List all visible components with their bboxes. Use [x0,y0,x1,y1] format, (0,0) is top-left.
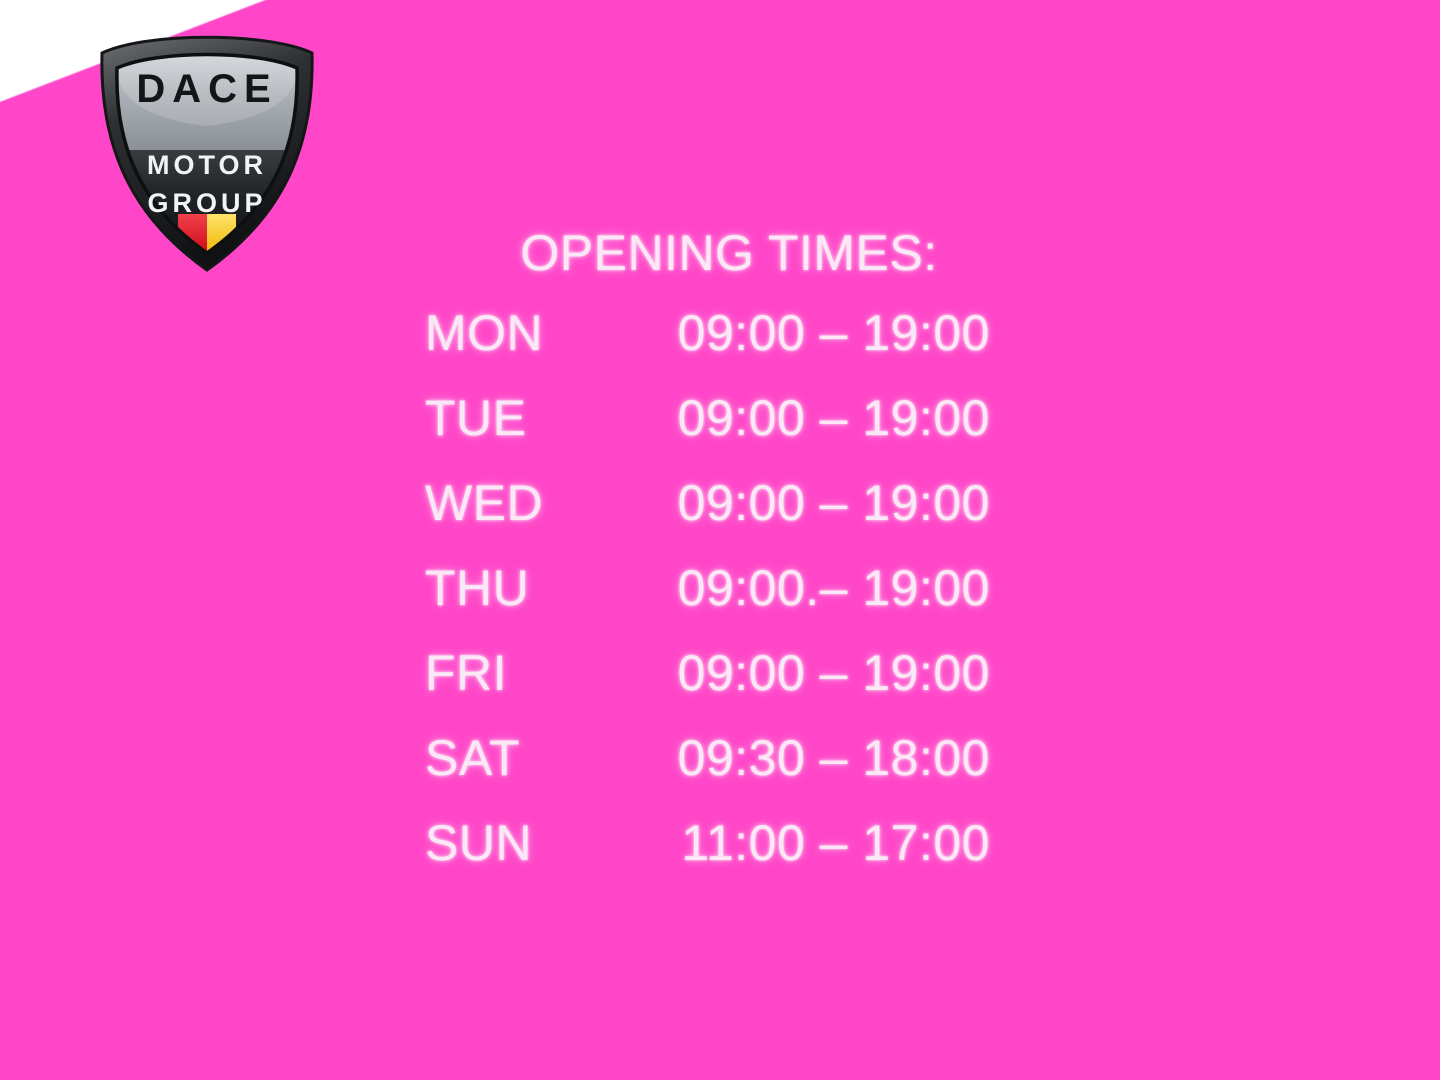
schedule-row-sat: SAT 09:30 – 18:00 [425,733,1045,818]
day-label-mon: MON [425,308,605,358]
day-hours-sun: 11:00 – 17:00 [605,818,1045,868]
day-hours-thu: 09:00.– 19:00 [605,563,1045,613]
day-label-sat: SAT [425,733,605,783]
schedule-row-sun: SUN 11:00 – 17:00 [425,818,1045,903]
schedule-row-thu: THU 09:00.– 19:00 [425,563,1045,648]
schedule-row-fri: FRI 09:00 – 19:00 [425,648,1045,733]
day-hours-wed: 09:00 – 19:00 [605,478,1045,528]
opening-times-poster: DACE MOTOR GROUP OPENING TIMES: MON 09:0… [0,0,1440,1080]
day-hours-tue: 09:00 – 19:00 [605,393,1045,443]
schedule-row-wed: WED 09:00 – 19:00 [425,478,1045,563]
page-title: OPENING TIMES: [425,228,1045,308]
day-hours-fri: 09:00 – 19:00 [605,648,1045,698]
day-label-sun: SUN [425,818,605,868]
dace-motor-group-logo: DACE MOTOR GROUP [78,22,336,280]
schedule-row-mon: MON 09:00 – 19:00 [425,308,1045,393]
logo-text-motor: MOTOR [147,150,267,180]
opening-times-block: OPENING TIMES: MON 09:00 – 19:00 TUE 09:… [425,228,1045,903]
day-label-thu: THU [425,563,605,613]
day-hours-mon: 09:00 – 19:00 [605,308,1045,358]
day-hours-sat: 09:30 – 18:00 [605,733,1045,783]
logo-text-group: GROUP [147,188,266,218]
day-label-tue: TUE [425,393,605,443]
logo-text-dace: DACE [136,67,277,111]
day-label-wed: WED [425,478,605,528]
day-label-fri: FRI [425,648,605,698]
schedule-row-tue: TUE 09:00 – 19:00 [425,393,1045,478]
